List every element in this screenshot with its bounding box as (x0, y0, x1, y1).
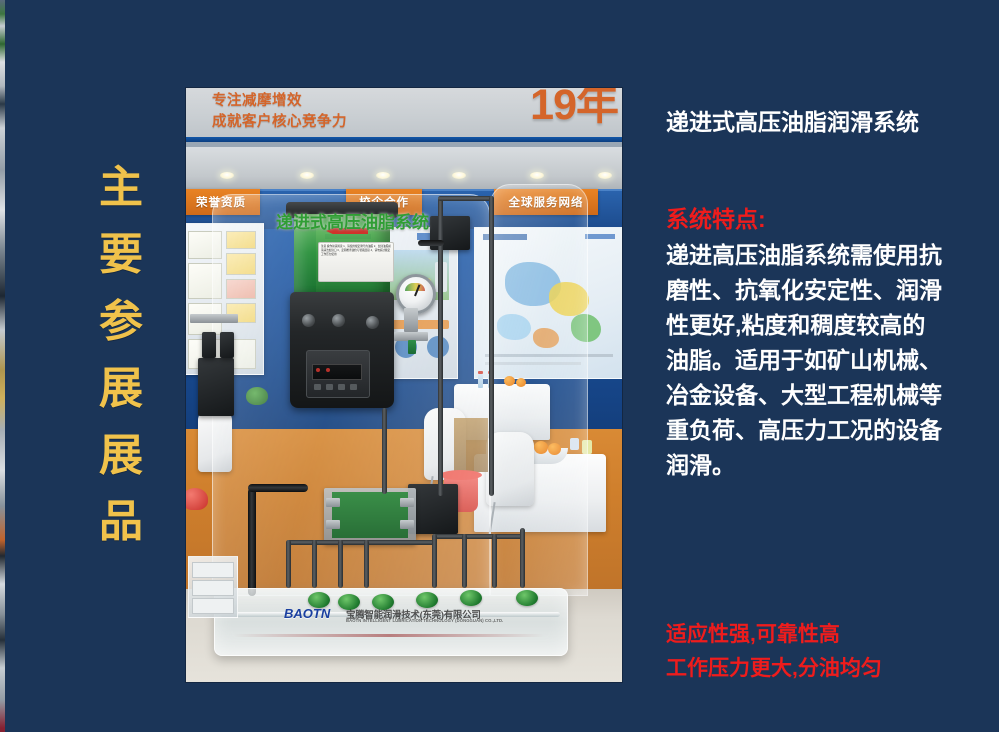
red-object (186, 488, 208, 510)
product-title: 递进式高压油脂润滑系统 (666, 103, 919, 137)
fascia-blue-stripe (186, 137, 622, 142)
electrical-cable (418, 240, 444, 246)
vertical-title-char-1: 要 (99, 222, 143, 289)
control-button[interactable] (314, 384, 321, 390)
vertical-title-char-2: 参 (99, 289, 143, 356)
anniversary-badge: 19年 (530, 88, 618, 127)
rubber-hose (248, 488, 256, 596)
grease-droplet (416, 592, 438, 608)
pump-bolt (366, 316, 379, 329)
parts-tray (192, 562, 234, 578)
feature-body-line: 润滑。 (666, 448, 966, 483)
parts-tray (192, 580, 234, 596)
booth-slogan-line1: 专注减摩增效 (212, 93, 302, 109)
steel-tube (312, 540, 317, 588)
ceiling-spotlight (452, 172, 466, 179)
green-valve (408, 340, 416, 354)
steel-tube (286, 540, 436, 545)
ceiling-spotlight (220, 172, 234, 179)
solenoid-valve-left (198, 358, 234, 416)
solenoid-coil (202, 332, 216, 358)
feature-body-line: 冶金设备、大型工程机械等 (666, 378, 966, 413)
feature-body: 递进高压油脂系统需使用抗 磨性、抗氧化安定性、润滑 性更好,粘度和稠度较高的 油… (666, 238, 966, 483)
divider-port (400, 520, 414, 529)
steel-tube (382, 408, 387, 494)
highlight-line: 工作压力更大,分油均匀 (666, 652, 986, 686)
pump-bolt (332, 314, 345, 327)
vertical-section-title: 主 要 参 展 展 品 (82, 155, 160, 556)
feature-body-line: 磨性、抗氧化安定性、润滑 (666, 273, 966, 308)
feature-body-line: 性更好,粘度和稠度较高的 (666, 308, 966, 343)
highlight-line: 适应性强,可靠性高 (666, 618, 986, 652)
photo-overlay-caption: 递进式高压油脂系统 (276, 208, 429, 233)
feature-body-line: 递进高压油脂系统需使用抗 (666, 238, 966, 273)
pump-display-screen (312, 364, 362, 380)
adjacent-image-sliver (0, 0, 5, 732)
highlight-footer: 适应性强,可靠性高 工作压力更大,分油均匀 (666, 618, 986, 686)
divider-green-body (332, 492, 408, 538)
divider-port (326, 520, 340, 529)
feature-body-line: 重负荷、高压力工况的设备 (666, 413, 966, 448)
divider-port (400, 498, 414, 507)
control-button[interactable] (326, 384, 333, 390)
booth-fascia-board: 专注减摩增效 成就客户核心竞争力 19年 (186, 88, 622, 142)
feature-body-line: 油脂。适用于如矿山机械、 (666, 343, 966, 378)
grease-droplet (516, 590, 538, 606)
ceiling-spotlight (300, 172, 314, 179)
vertical-title-char-5: 品 (99, 489, 143, 556)
control-button[interactable] (350, 384, 357, 390)
inlet-fitting (190, 314, 238, 323)
status-led (316, 368, 320, 372)
steel-tube (432, 534, 437, 588)
gauge-fitting (404, 308, 418, 332)
steel-tube (438, 196, 494, 201)
feature-heading: 系统特点: (666, 200, 766, 234)
pump-instruction-label: 注意 操作前请阅读 1、请使用规定牌号的油脂 2、加注油脂前请清洁加注口 3、定… (318, 242, 394, 282)
solenoid-coil (220, 332, 234, 358)
ceiling-spotlight (598, 172, 612, 179)
booth-slogan-line2: 成就客户核心竞争力 (212, 114, 347, 130)
booth-ceiling (186, 147, 622, 189)
vertical-title-char-3: 展 (99, 356, 143, 423)
ceiling-spotlight (376, 172, 390, 179)
steel-tube (338, 540, 343, 588)
steel-tube (364, 540, 369, 588)
steel-tube (462, 534, 467, 588)
steel-tube (520, 528, 525, 588)
steel-tube (492, 534, 497, 588)
grease-droplet (460, 590, 482, 606)
pump-bolt (302, 314, 315, 327)
company-name-en: BAOTN INTELLIGENT LUBRICATION TECHNOLOGY… (346, 618, 503, 623)
control-button[interactable] (338, 384, 345, 390)
status-led (326, 368, 330, 372)
steel-tube (432, 534, 524, 539)
exhibition-booth-photo: 专注减摩增效 成就客户核心竞争力 19年 荣誉资质 校企合作 全球服务网络 (186, 88, 622, 682)
booth-slogan: 专注减摩增效 成就客户核心竞争力 (212, 91, 347, 133)
vertical-title-char-4: 展 (99, 423, 143, 490)
base-red-line (234, 634, 544, 637)
ceiling-spotlight (530, 172, 544, 179)
rubber-hose (248, 484, 308, 492)
baotn-brand-logo: BAOTN (284, 606, 330, 621)
slide-root: 主 要 参 展 展 品 专注减摩增效 成就客户核心竞争力 19年 荣誉资质 校企… (0, 0, 999, 732)
vertical-title-char-0: 主 (99, 155, 143, 222)
parts-tray (192, 598, 234, 614)
divider-port (326, 498, 340, 507)
steel-tube (286, 540, 291, 588)
steel-tube (489, 196, 494, 496)
